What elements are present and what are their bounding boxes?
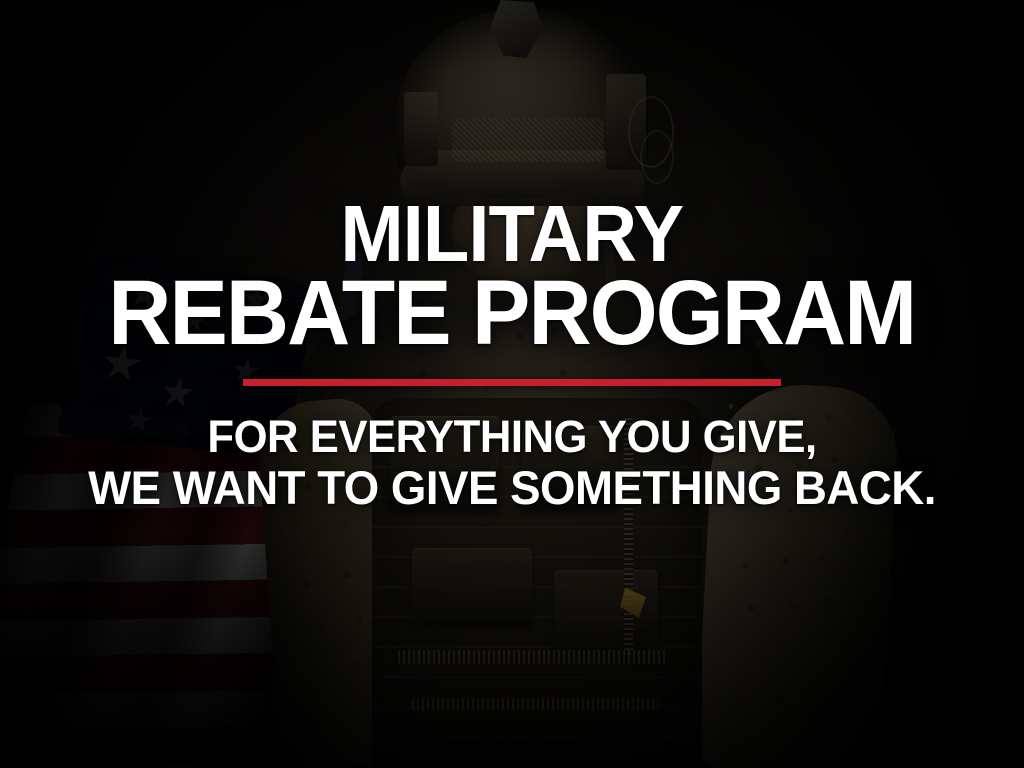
poster-content: MILITARY REBATE PROGRAM FOR EVERYTHING Y…: [0, 0, 1024, 768]
headline-line-1: MILITARY: [109, 197, 916, 271]
headline: MILITARY REBATE PROGRAM: [109, 197, 916, 357]
subheadline-line-2: WE WANT TO GIVE SOMETHING BACK.: [88, 462, 936, 515]
military-rebate-poster: MILITARY REBATE PROGRAM FOR EVERYTHING Y…: [0, 0, 1024, 768]
headline-line-2: REBATE PROGRAM: [109, 271, 916, 357]
subheadline: FOR EVERYTHING YOU GIVE, WE WANT TO GIVE…: [88, 412, 936, 515]
red-divider-rule: [243, 379, 781, 386]
subheadline-line-1: FOR EVERYTHING YOU GIVE,: [88, 412, 936, 462]
